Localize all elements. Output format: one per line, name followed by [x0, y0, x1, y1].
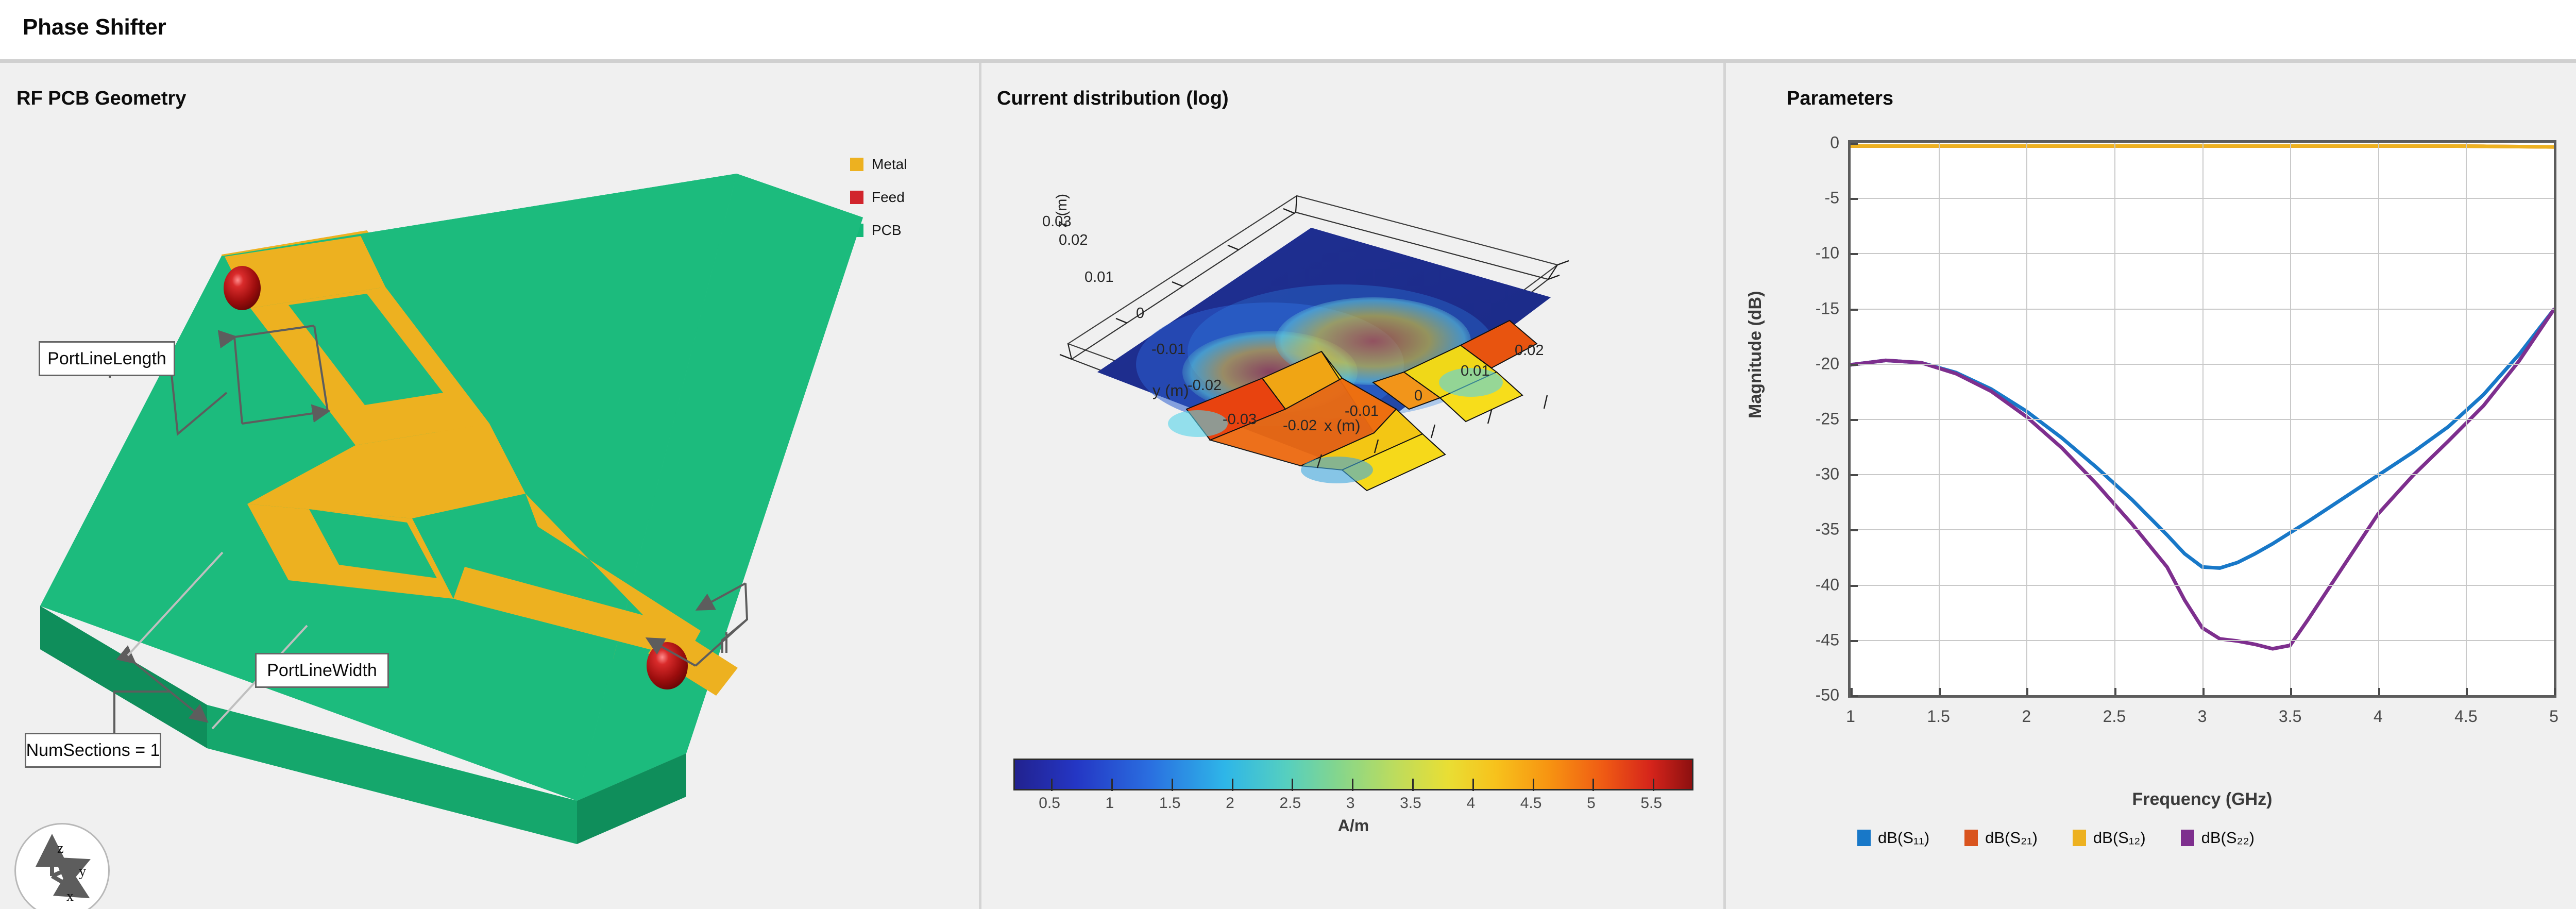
colorbar-tick-label: 4.5 [1520, 795, 1542, 812]
x-tick-label: 3 [2198, 707, 2207, 726]
y-tick-label: -45 [1757, 630, 1839, 649]
y-tick-label: -10 [1757, 244, 1839, 263]
y-tick-mark [1851, 529, 1858, 531]
gridline-vertical [2378, 143, 2379, 695]
x-axis-label: Frequency (GHz) [1848, 789, 2556, 810]
y-tick-mark [1851, 585, 1858, 587]
parameters-panel: Parameters Magnitude (dB) Frequency (GHz… [1726, 63, 2576, 909]
x-tick-label: 4.5 [2454, 707, 2477, 726]
legend-label-db(s21): dB(S₂₁) [1985, 829, 2038, 847]
colorbar-tick [1111, 779, 1113, 791]
pcb-3d-view[interactable] [0, 63, 979, 909]
colorbar-tick [1232, 779, 1233, 791]
y-tick-label: -40 [1757, 575, 1839, 594]
gridline-vertical [2290, 143, 2291, 695]
colorbar-tick-label: 4 [1466, 795, 1475, 812]
colorbar-tick-label: 2 [1226, 795, 1234, 812]
current-colorbar[interactable]: 0.511.522.533.544.555.5 A/m [1013, 759, 1693, 816]
legend-item-db(s12)[interactable]: dB(S₁₂) [2073, 829, 2146, 847]
colorbar-gradient [1013, 759, 1693, 790]
colorbar-tick [1592, 779, 1594, 791]
y-tick-mark [1851, 143, 1858, 145]
s-parameters-plot[interactable] [1848, 140, 2556, 698]
y-tick-label: -35 [1757, 520, 1839, 539]
current-y-tick--0_01: -0.01 [1151, 341, 1185, 358]
gridline-vertical [1939, 143, 1940, 695]
current-distribution-panel: Current distribution (log) [981, 63, 1723, 909]
legend-item-db(s22)[interactable]: dB(S₂₂) [2181, 829, 2255, 847]
colorbar-tick-label: 1 [1106, 795, 1114, 812]
colorbar-tick-label: 5.5 [1640, 795, 1662, 812]
gridline-vertical [2114, 143, 2115, 695]
legend-swatch-db(s21) [1964, 830, 1978, 846]
y-tick-mark [1851, 198, 1858, 200]
title-bar: Phase Shifter [0, 0, 2576, 63]
y-tick-mark [1851, 695, 1858, 697]
legend-swatch-db(s12) [2073, 830, 2086, 846]
current-x-tick-0_01: 0.01 [1461, 363, 1489, 380]
current-y-tick--0_02: -0.02 [1188, 377, 1222, 394]
current-x-tick-0_02: 0.02 [1515, 342, 1544, 359]
current-x-axis-label: x (m) [1324, 416, 1361, 435]
current-y-tick-0_02: 0.02 [1059, 232, 1088, 249]
x-tick-mark [2466, 688, 2468, 695]
colorbar-tick-label: 0.5 [1039, 795, 1060, 812]
y-tick-label: -15 [1757, 299, 1839, 318]
gridline-vertical [2202, 143, 2204, 695]
x-tick-label: 2.5 [2103, 707, 2126, 726]
legend-swatch-db(s11) [1857, 830, 1871, 846]
y-tick-mark [1851, 419, 1858, 421]
y-tick-label: -25 [1757, 410, 1839, 429]
current-y-tick-0: 0 [1136, 305, 1144, 322]
current-y-axis-label: y (m) [1153, 381, 1189, 400]
triad-x-label: x [66, 888, 74, 904]
gridline-vertical [2026, 143, 2027, 695]
colorbar-tick [1472, 779, 1474, 791]
y-tick-label: -50 [1757, 686, 1839, 705]
colorbar-tick [1412, 779, 1414, 791]
y-tick-label: 0 [1757, 133, 1839, 153]
x-tick-mark [2554, 688, 2556, 695]
current-x-tick-0: 0 [1414, 388, 1422, 405]
parameters-title: Parameters [1787, 88, 1893, 110]
x-tick-label: 5 [2549, 707, 2558, 726]
title-divider [0, 59, 2576, 63]
colorbar-tick [1352, 779, 1353, 791]
s-parameters-legend: dB(S₁₁)dB(S₂₁)dB(S₁₂)dB(S₂₂) [1857, 829, 2290, 847]
legend-swatch-db(s22) [2181, 830, 2194, 846]
x-tick-mark [1851, 688, 1853, 695]
current-x-tick--0_02: -0.02 [1283, 417, 1317, 434]
panel-container: RF PCB Geometry Metal Feed PCB [0, 63, 2576, 909]
page-title: Phase Shifter [23, 14, 166, 40]
x-tick-mark [2378, 688, 2380, 695]
triad-z-label: z [57, 840, 63, 856]
y-tick-mark [1851, 364, 1858, 366]
x-tick-mark [2114, 688, 2116, 695]
colorbar-tick [1653, 779, 1654, 791]
rf-pcb-geometry-panel: RF PCB Geometry Metal Feed PCB [0, 63, 979, 909]
x-tick-label: 2 [2022, 707, 2031, 726]
current-y-tick-0_01: 0.01 [1084, 269, 1113, 286]
legend-item-db(s11)[interactable]: dB(S₁₁) [1857, 829, 1929, 847]
callout-port-line-width[interactable]: PortLineWidth [255, 653, 389, 688]
y-tick-mark [1851, 474, 1858, 476]
x-tick-mark [1939, 688, 1941, 695]
x-tick-label: 4 [2374, 707, 2383, 726]
x-tick-label: 1 [1846, 707, 1855, 726]
x-tick-label: 1.5 [1927, 707, 1950, 726]
x-tick-mark [2290, 688, 2292, 695]
y-tick-label: -20 [1757, 354, 1839, 373]
gridline-vertical [2466, 143, 2467, 695]
phase-shifter-app: Phase Shifter RF PCB Geometry Metal Feed… [0, 0, 2576, 909]
colorbar-tick-label: 5 [1587, 795, 1596, 812]
legend-label-db(s11): dB(S₁₁) [1878, 829, 1929, 847]
triad-y-label: y [79, 864, 86, 880]
y-tick-mark [1851, 640, 1858, 642]
colorbar-tick-labels: 0.511.522.533.544.555.5 [1013, 795, 1693, 816]
callout-port-line-length[interactable]: PortLineLength [39, 341, 175, 376]
colorbar-tick [1172, 779, 1173, 791]
x-tick-mark [2026, 688, 2028, 695]
legend-item-db(s21)[interactable]: dB(S₂₁) [1964, 829, 2038, 847]
feed-port-1-marker [224, 266, 261, 310]
colorbar-tick-label: 3 [1346, 795, 1355, 812]
x-tick-mark [2202, 688, 2205, 695]
colorbar-tick [1533, 779, 1534, 791]
y-tick-label: -5 [1757, 189, 1839, 208]
y-tick-mark [1851, 309, 1858, 311]
y-tick-mark [1851, 253, 1858, 255]
y-tick-label: -30 [1757, 465, 1839, 484]
colorbar-tick-label: 1.5 [1159, 795, 1181, 812]
x-tick-label: 3.5 [2279, 707, 2301, 726]
colorbar-unit-label: A/m [1013, 816, 1693, 835]
colorbar-tick-label: 3.5 [1400, 795, 1421, 812]
current-y-tick--0_03: -0.03 [1223, 411, 1257, 428]
colorbar-tick [1051, 779, 1053, 791]
legend-label-db(s22): dB(S₂₂) [2201, 829, 2255, 847]
colorbar-tick [1292, 779, 1293, 791]
axes-orientation-widget[interactable]: z y x [14, 823, 110, 909]
callout-num-sections[interactable]: NumSections = 1 [25, 733, 161, 768]
legend-label-db(s12): dB(S₁₂) [2093, 829, 2146, 847]
colorbar-tick-label: 2.5 [1279, 795, 1301, 812]
